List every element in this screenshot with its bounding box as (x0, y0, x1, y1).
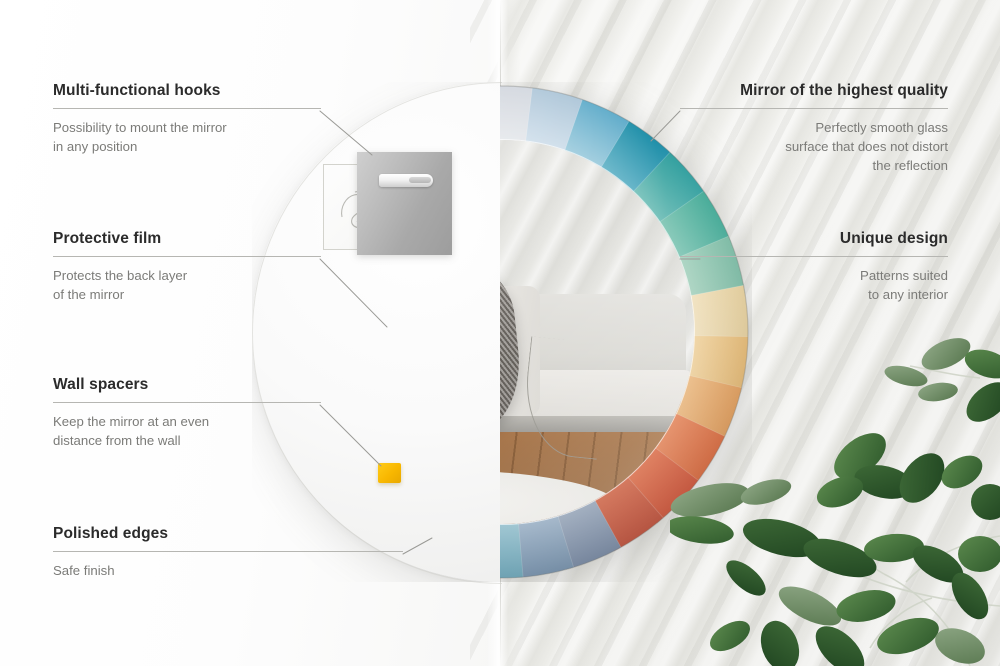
callout-edges-title: Polished edges (53, 525, 403, 542)
callout-edges-description: Safe finish (53, 562, 403, 581)
callout-spacers-title: Wall spacers (53, 376, 321, 393)
foliage-decoration (670, 306, 1000, 666)
callout-spacers: Wall spacers Keep the mirror at an even … (53, 376, 321, 451)
callout-edges: Polished edges Safe finish (53, 525, 403, 581)
callout-hooks-title: Multi-functional hooks (53, 82, 321, 99)
callout-film-title: Protective film (53, 230, 321, 247)
infographic-stage: Multi-functional hooks Possibility to mo… (0, 0, 1000, 666)
callout-film-line1: Protects the back layer (53, 268, 187, 283)
callout-edges-rule (53, 551, 403, 552)
callout-spacers-line1: Keep the mirror at an even (53, 414, 209, 429)
callout-quality-line3: the reflection (872, 158, 948, 173)
callout-spacers-rule (53, 402, 321, 403)
callout-design: Unique design Patterns suited to any int… (680, 230, 948, 305)
callout-film-description: Protects the back layer of the mirror (53, 267, 321, 304)
callout-quality: Mirror of the highest quality Perfectly … (680, 82, 948, 175)
callout-hooks-line1: Possibility to mount the mirror (53, 120, 227, 135)
callout-spacers-line2: distance from the wall (53, 433, 181, 448)
callout-design-rule (680, 256, 948, 257)
callout-spacers-description: Keep the mirror at an even distance from… (53, 413, 321, 450)
hook-plate-icon (379, 174, 433, 187)
callout-quality-description: Perfectly smooth glass surface that does… (680, 119, 948, 175)
callout-edges-line1: Safe finish (53, 563, 115, 578)
callout-quality-line1: Perfectly smooth glass (815, 120, 948, 135)
callout-film-rule (53, 256, 321, 257)
callout-quality-title: Mirror of the highest quality (680, 82, 948, 99)
callout-quality-line2: surface that does not distort (785, 139, 948, 154)
callout-hooks: Multi-functional hooks Possibility to mo… (53, 82, 321, 157)
callout-design-line2: to any interior (868, 287, 948, 302)
callout-hooks-line2: in any position (53, 139, 137, 154)
callout-hooks-rule (53, 108, 321, 109)
hook-detail-swatch (357, 152, 452, 255)
callout-film: Protective film Protects the back layer … (53, 230, 321, 305)
callout-film-line2: of the mirror (53, 287, 124, 302)
callout-quality-rule (680, 108, 948, 109)
wall-spacer-swatch (378, 463, 401, 483)
callout-hooks-description: Possibility to mount the mirror in any p… (53, 119, 321, 156)
callout-design-description: Patterns suited to any interior (680, 267, 948, 304)
callout-design-title: Unique design (680, 230, 948, 247)
callout-design-line1: Patterns suited (860, 268, 948, 283)
